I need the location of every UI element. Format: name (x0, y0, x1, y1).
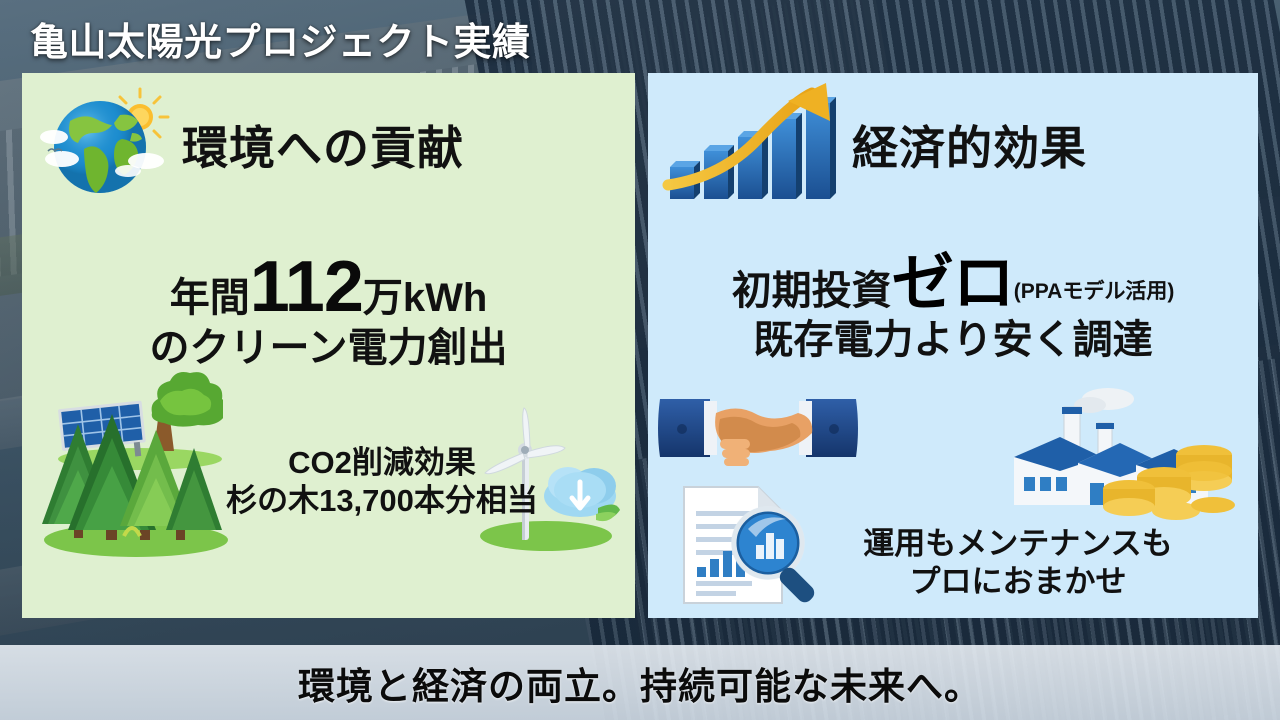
panel-environment: 環境への貢献 (22, 73, 635, 618)
handshake-icon (658, 383, 858, 488)
footer-message: 環境と経済の両立。持続可能な未来へ。 (298, 656, 982, 710)
environment-caption-line2: 杉の木13,700本分相当 (172, 482, 592, 520)
growth-bar-chart-icon (662, 81, 842, 216)
economy-stat: 初期投資ゼロ(PPAモデル活用) 既存電力より安く調達 (648, 253, 1258, 365)
earth-globe-icon (36, 87, 172, 210)
environment-heading: 環境への貢献 (182, 125, 464, 171)
footer-band: 環境と経済の両立。持続可能な未来へ。 (0, 645, 1280, 720)
environment-stat: 年間112万kWh のクリーン電力創出 (22, 251, 635, 373)
economy-header: 経済的効果 (648, 73, 1258, 209)
environment-bottom-row: CO2削減効果 杉の木13,700本分相当 (22, 402, 635, 612)
environment-stat-unit: 万kWh (363, 276, 487, 320)
economy-caption-line1: 運用もメンテナンスも (823, 525, 1213, 563)
economy-caption: 運用もメンテナンスも プロにおまかせ (823, 525, 1213, 601)
environment-stat-value: 112 (250, 247, 363, 327)
environment-caption: CO2削減効果 杉の木13,700本分相当 (172, 444, 592, 520)
factory-coins-icon (998, 385, 1238, 530)
document-magnifier-icon (670, 481, 835, 616)
environment-stat-prefix: 年間 (170, 276, 250, 320)
economy-stat-subline: 既存電力より安く調達 (658, 315, 1248, 365)
page-title: 亀山太陽光プロジェクト実績 (30, 11, 531, 66)
economy-heading: 経済的効果 (852, 125, 1087, 171)
environment-caption-line1: CO2削減効果 (172, 444, 592, 482)
economy-caption-line2: プロにおまかせ (823, 563, 1213, 601)
economy-stat-prefix: 初期投資 (732, 269, 892, 313)
panel-economy: 経済的効果 初期投資ゼロ(PPAモデル活用) 既存電力より安く調達 (648, 73, 1258, 618)
economy-stat-note: (PPAモデル活用) (1014, 280, 1175, 303)
economy-stat-value: ゼロ (892, 249, 1014, 318)
environment-stat-subline: のクリーン電力創出 (32, 323, 625, 373)
environment-header: 環境への貢献 (22, 73, 635, 209)
